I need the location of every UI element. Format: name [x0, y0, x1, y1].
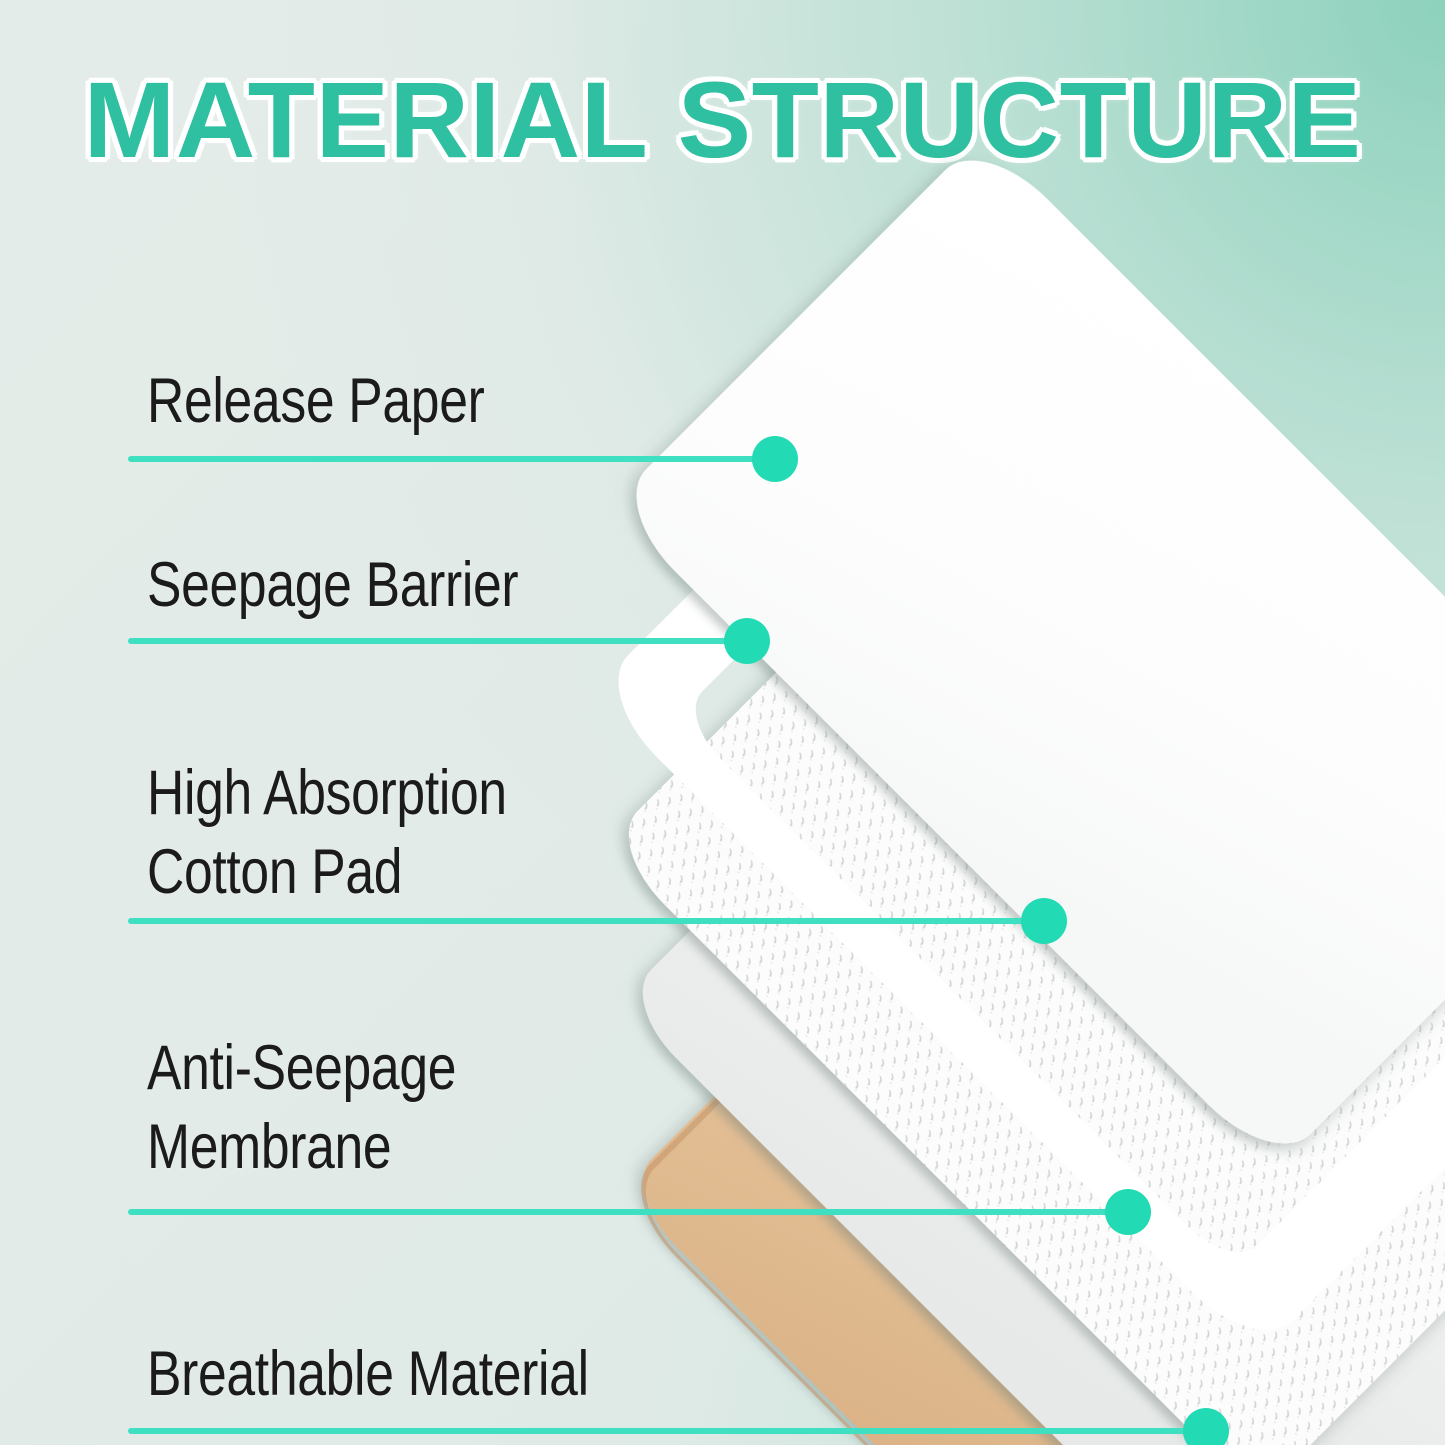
layer-label-cotton-pad-line1: High Absorption: [147, 757, 507, 830]
leader-dot-release-paper: [752, 436, 798, 482]
exploded-layer-diagram: [0, 0, 1445, 1445]
leader-line-seepage-barrier: [128, 638, 748, 644]
leader-dot-seepage-barrier: [724, 618, 770, 664]
layer-label-anti-seepage-membrane-line1: Anti-Seepage: [147, 1032, 456, 1105]
layer-label-release-paper: Release Paper: [147, 365, 484, 438]
infographic-canvas: MATERIAL STRUCTURE: [0, 0, 1445, 1445]
leader-dot-anti-seepage-membrane: [1105, 1189, 1151, 1235]
leader-line-release-paper: [128, 456, 774, 462]
leader-dot-cotton-pad: [1021, 898, 1067, 944]
leader-line-breathable-material: [128, 1428, 1206, 1434]
leader-line-anti-seepage-membrane: [128, 1209, 1128, 1215]
leader-line-cotton-pad: [128, 918, 1044, 924]
layer-label-cotton-pad-line2: Cotton Pad: [147, 836, 402, 909]
layer-label-breathable-material: Breathable Material: [147, 1338, 589, 1411]
layer-label-anti-seepage-membrane-line2: Membrane: [147, 1111, 391, 1184]
layer-label-seepage-barrier: Seepage Barrier: [147, 549, 518, 622]
